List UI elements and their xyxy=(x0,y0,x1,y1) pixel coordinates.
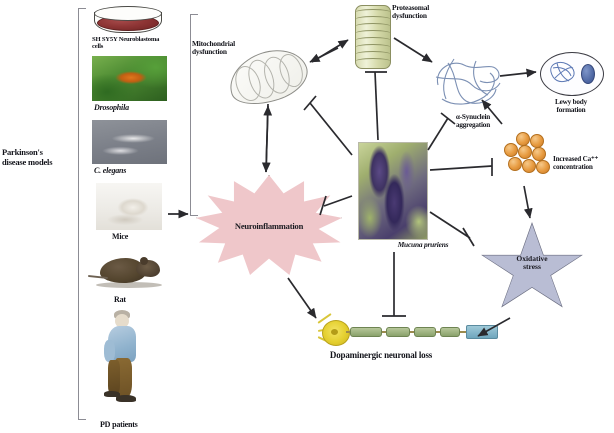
model-label-sh-sy5y: SH SY5Y Neuroblastoma cells xyxy=(92,36,196,51)
node-label-synuclein-aggregation: α-Synuclein aggregation xyxy=(438,113,508,129)
models-bracket xyxy=(78,8,79,420)
protein-tangle-icon xyxy=(432,55,504,110)
model-label-sh-sy5y-line1: SH SY5Y Neuroblastoma xyxy=(92,36,196,43)
node-label-lewy-body-formation: Lewy body formation xyxy=(538,98,604,114)
node-label-calcium-line1: Increased Ca⁺⁺ xyxy=(553,155,614,163)
node-label-proteasomal-line2: dysfunction xyxy=(392,12,462,20)
calcium-ion xyxy=(518,145,532,159)
calcium-ion xyxy=(508,157,522,171)
models-bracket-label-line2: disease models xyxy=(2,158,76,168)
node-label-lewy-line2: formation xyxy=(538,106,604,114)
neuroinflammation-starburst: Neuroinflammation xyxy=(196,175,342,277)
model-label-pd-patients: PD patients xyxy=(100,421,170,430)
petri-dish-rim xyxy=(94,6,162,21)
proteasome-ring xyxy=(355,58,391,66)
node-label-calcium: Increased Ca⁺⁺ concentration xyxy=(553,155,614,171)
calcium-ion xyxy=(530,134,544,148)
nematode-photo xyxy=(92,120,167,164)
lewy-body-cell-icon xyxy=(540,52,604,96)
model-label-drosophila: Drosophila xyxy=(94,104,174,113)
calcium-ions-icon xyxy=(500,132,558,182)
calcium-ion xyxy=(532,147,546,161)
pathology-bracket xyxy=(190,14,191,216)
neuron-nucleus xyxy=(331,329,338,335)
model-label-rat: Rat xyxy=(114,296,164,305)
models-bracket-label: Parkinson's disease models xyxy=(2,148,76,167)
node-label-oxidative-line2: stress xyxy=(523,262,541,271)
oxidative-stress-star: Oxidative stress xyxy=(481,224,583,314)
neuron-icon xyxy=(318,318,518,348)
node-label-synuclein-line2: aggregation xyxy=(438,121,508,129)
neuron-myelin-sheath xyxy=(414,327,436,337)
proteasome-barrel-icon xyxy=(355,5,391,69)
neuron-myelin-sheath xyxy=(386,327,410,337)
patient-leg-back xyxy=(108,360,120,394)
rat-shadow xyxy=(96,282,162,288)
figure-canvas: Parkinson's disease models SH SY5Y Neuro… xyxy=(0,0,614,433)
neuron-axon-terminal xyxy=(466,325,498,339)
neuron-myelin-sheath xyxy=(440,327,460,337)
calcium-ion xyxy=(522,159,536,173)
mucuna-pruriens-photo xyxy=(358,142,428,240)
node-label-lewy-line1: Lewy body xyxy=(538,98,604,106)
node-label-mitochondrial-line2: dysfunction xyxy=(192,48,270,56)
node-label-neuroinflammation: Neuroinflammation xyxy=(235,222,303,231)
node-label-synuclein-line1: α-Synuclein xyxy=(438,113,508,121)
lewy-body-nucleus xyxy=(581,64,595,84)
calcium-ion xyxy=(504,143,518,157)
patient-illustration xyxy=(96,310,158,416)
node-label-oxidative-stress: Oxidative stress xyxy=(516,255,547,271)
node-label-mitochondrial-dysfunction: Mitochondrial dysfunction xyxy=(192,40,270,57)
node-label-dopaminergic-loss: Dopaminergic neuronal loss xyxy=(286,350,476,360)
rat-illustration xyxy=(88,248,168,292)
rat-ear xyxy=(140,257,148,265)
calcium-ion xyxy=(536,160,550,174)
patient-shoe-back xyxy=(104,391,120,397)
center-caption: Mucuna pruriens xyxy=(378,241,468,249)
node-label-calcium-line2: concentration xyxy=(553,163,614,171)
mouse-photo xyxy=(96,183,162,230)
patient-arm xyxy=(104,340,115,362)
model-label-sh-sy5y-line2: cells xyxy=(92,43,196,50)
node-label-proteasomal-dysfunction: Proteasomal dysfunction xyxy=(392,4,462,21)
neuron-myelin-sheath xyxy=(350,327,382,337)
petri-dish-icon xyxy=(94,6,160,34)
calcium-ion xyxy=(516,132,530,146)
model-label-c-elegans: C. elegans xyxy=(94,167,174,176)
fruit-fly-photo xyxy=(92,56,167,101)
model-label-mice: Mice xyxy=(112,233,172,242)
